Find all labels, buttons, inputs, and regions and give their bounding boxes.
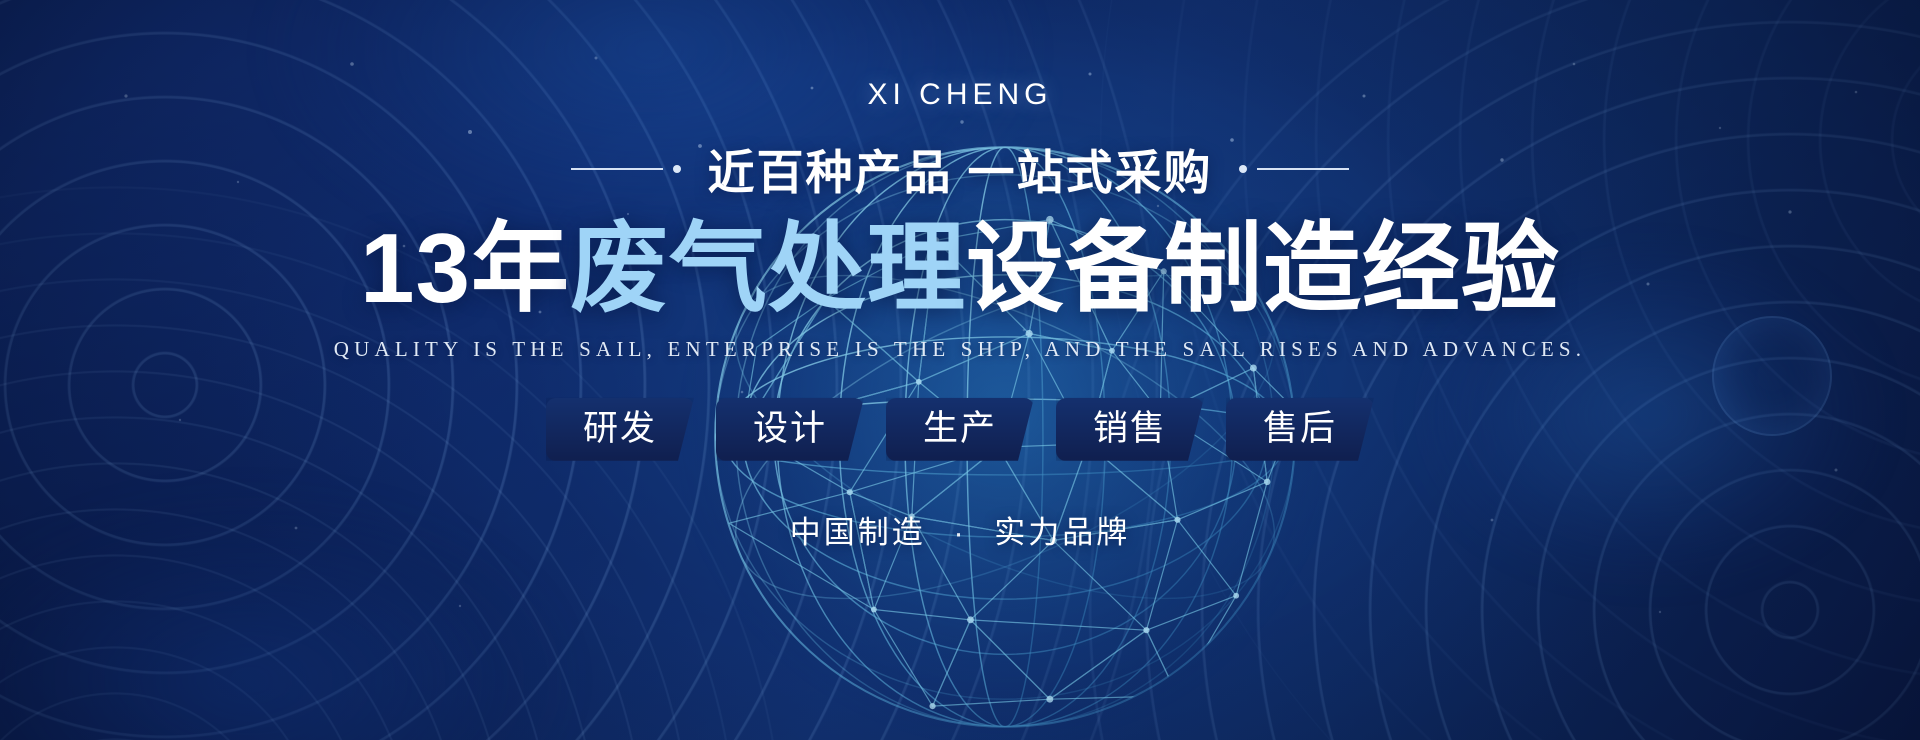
ornament-dot-right <box>1239 165 1247 173</box>
service-pill-design[interactable]: 设计 <box>716 398 864 461</box>
main-headline: 13年废气处理设备制造经验 <box>360 215 1560 323</box>
ornament-dot-left <box>673 165 681 173</box>
footnote-right: 实力品牌 <box>994 515 1130 550</box>
english-tagline: QUALITY IS THE SAIL, ENTERPRISE IS THE S… <box>334 337 1587 362</box>
banner-content: XI CHENG 近百种产品 一站式采购 13年废气处理设备制造经验 QUALI… <box>0 0 1920 740</box>
service-pill-aftersales[interactable]: 售后 <box>1226 398 1374 461</box>
headline-part-highlight: 废气处理 <box>570 213 966 323</box>
subheadline-text: 近百种产品 一站式采购 <box>707 134 1212 203</box>
service-pill-production[interactable]: 生产 <box>886 398 1034 461</box>
subheadline-row: 近百种产品 一站式采购 <box>571 134 1348 203</box>
service-pill-list: 研发 设计 生产 销售 售后 <box>546 398 1374 461</box>
headline-part-years: 13年 <box>360 213 570 323</box>
ornament-left <box>571 165 681 173</box>
service-pill-sales[interactable]: 销售 <box>1056 398 1204 461</box>
ornament-line-left <box>571 168 663 170</box>
ornament-right <box>1239 165 1349 173</box>
service-pill-rd[interactable]: 研发 <box>546 398 694 461</box>
footnote-left: 中国制造 <box>790 515 926 550</box>
footnote-separator: · <box>953 515 966 550</box>
footnote-row: 中国制造 · 实力品牌 <box>790 507 1131 552</box>
headline-part-tail: 设备制造经验 <box>966 213 1560 323</box>
hero-banner: XI CHENG 近百种产品 一站式采购 13年废气处理设备制造经验 QUALI… <box>0 0 1920 740</box>
brand-name-en: XI CHENG <box>867 78 1052 112</box>
ornament-line-right <box>1257 168 1349 170</box>
